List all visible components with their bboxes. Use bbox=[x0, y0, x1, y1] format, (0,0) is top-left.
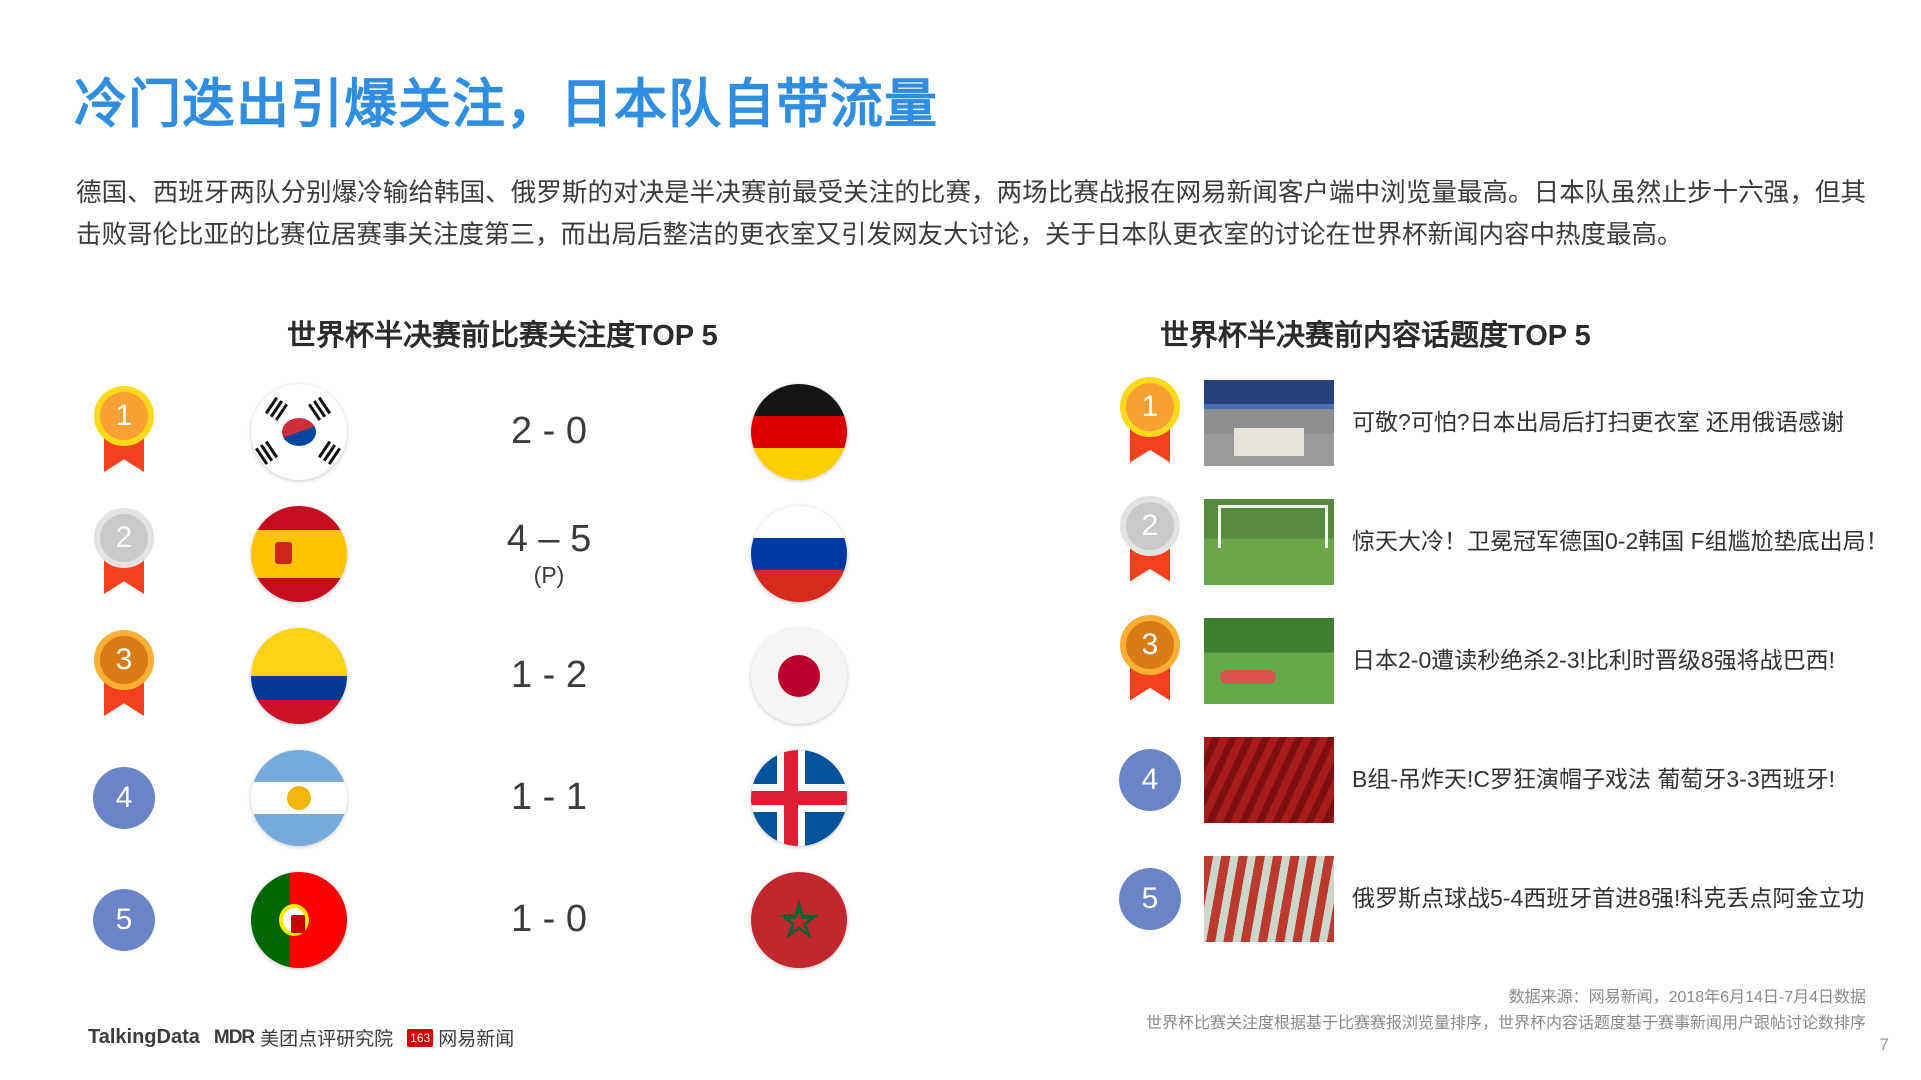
japan-belgium-photo bbox=[1204, 618, 1334, 704]
team-a-cell bbox=[174, 872, 424, 968]
rank-cell: 4 bbox=[74, 767, 174, 829]
page-number: 7 bbox=[1880, 1035, 1889, 1055]
colombia-flag-icon bbox=[251, 628, 347, 724]
team-a-cell bbox=[174, 628, 424, 724]
mdr-logo-mark: MDR bbox=[214, 1027, 254, 1049]
rank-number: 2 bbox=[1120, 496, 1180, 556]
score-value: 4 – 5 bbox=[507, 518, 592, 560]
netease-logo-mark: 163 bbox=[407, 1029, 433, 1047]
talkingdata-logo: TalkingData bbox=[88, 1026, 200, 1049]
match-row: 4 1 - 1 bbox=[74, 738, 994, 858]
bronze-medal-icon: 3 bbox=[91, 630, 157, 722]
page-title: 冷门迭出引爆关注，日本队自带流量 bbox=[74, 62, 938, 138]
crowd-red-photo bbox=[1204, 737, 1334, 823]
rank-number: 3 bbox=[1120, 615, 1180, 675]
team-a-cell bbox=[174, 384, 424, 480]
intro-paragraph: 德国、西班牙两队分别爆冷输给韩国、俄罗斯的对决是半决赛前最受关注的比赛，两场比赛… bbox=[76, 172, 1866, 256]
news-title[interactable]: 日本2-0遭读秒绝杀2-3!比利时晋级8强将战巴西! bbox=[1352, 644, 1890, 677]
rank-cell: 2 bbox=[74, 508, 174, 600]
score-value: 1 - 2 bbox=[511, 654, 587, 696]
rank-number: 1 bbox=[1120, 377, 1180, 437]
score-value: 1 - 0 bbox=[511, 898, 587, 940]
celebration-photo bbox=[1204, 856, 1334, 942]
morocco-flag-icon bbox=[751, 872, 847, 968]
source-line-1: 数据来源：网易新闻，2018年6月14日-7月4日数据 bbox=[1146, 985, 1866, 1011]
team-a-cell bbox=[174, 506, 424, 602]
rank-cell: 3 bbox=[74, 630, 174, 722]
team-b-cell bbox=[674, 506, 924, 602]
match-row: 1 2 - 0 bbox=[74, 372, 994, 492]
news-title[interactable]: 俄罗斯点球战5-4西班牙首进8强!科克丢点阿金立功 bbox=[1352, 882, 1890, 915]
match-score: 1 - 1 bbox=[424, 777, 674, 819]
topic-list: 1 可敬?可怕?日本出局后打扫更衣室 还用俄语感谢 2 惊天大冷！卫冕冠军德国0… bbox=[1100, 372, 1890, 967]
goal-save-photo bbox=[1204, 499, 1334, 585]
russia-flag-icon bbox=[751, 506, 847, 602]
match-row: 3 1 - 2 bbox=[74, 616, 994, 736]
argentina-flag-icon bbox=[251, 750, 347, 846]
team-b-cell bbox=[674, 384, 924, 480]
rank-number: 3 bbox=[94, 630, 154, 690]
score-note: (P) bbox=[424, 563, 674, 588]
netease-logo-text: 网易新闻 bbox=[438, 1024, 514, 1051]
silver-medal-icon: 2 bbox=[1117, 496, 1183, 588]
news-row[interactable]: 1 可敬?可怕?日本出局后打扫更衣室 还用俄语感谢 bbox=[1100, 372, 1890, 473]
left-section-heading: 世界杯半决赛前比赛关注度TOP 5 bbox=[287, 312, 718, 354]
gold-medal-icon: 1 bbox=[1117, 377, 1183, 469]
match-score: 4 – 5 (P) bbox=[424, 519, 674, 588]
match-attention-list: 1 2 - 0 2 bbox=[74, 372, 994, 982]
logo-bar: TalkingData MDR 美团点评研究院 163 网易新闻 bbox=[88, 1024, 514, 1051]
team-b-cell bbox=[674, 750, 924, 846]
news-row[interactable]: 3 日本2-0遭读秒绝杀2-3!比利时晋级8强将战巴西! bbox=[1100, 610, 1890, 711]
rank-circle-5: 5 bbox=[1119, 868, 1181, 930]
rank-cell: 1 bbox=[1100, 377, 1200, 469]
rank-cell: 2 bbox=[1100, 496, 1200, 588]
match-score: 1 - 2 bbox=[424, 655, 674, 697]
match-row: 5 1 - 0 bbox=[74, 860, 994, 980]
team-b-cell bbox=[674, 872, 924, 968]
right-section-heading: 世界杯半决赛前内容话题度TOP 5 bbox=[1160, 312, 1591, 354]
portugal-flag-icon bbox=[251, 872, 347, 968]
talkingdata-logo-text: TalkingData bbox=[88, 1026, 200, 1048]
source-note: 数据来源：网易新闻，2018年6月14日-7月4日数据 世界杯比赛关注度根据基于… bbox=[1146, 985, 1866, 1037]
team-b-cell bbox=[674, 628, 924, 724]
rank-circle-4: 4 bbox=[93, 767, 155, 829]
news-title[interactable]: B组-吊炸天!C罗狂演帽子戏法 葡萄牙3-3西班牙! bbox=[1352, 763, 1890, 796]
locker-room-photo bbox=[1204, 380, 1334, 466]
match-score: 1 - 0 bbox=[424, 899, 674, 941]
news-row[interactable]: 5 俄罗斯点球战5-4西班牙首进8强!科克丢点阿金立功 bbox=[1100, 848, 1890, 949]
rank-number: 2 bbox=[94, 508, 154, 568]
score-value: 1 - 1 bbox=[511, 776, 587, 818]
score-value: 2 - 0 bbox=[511, 410, 587, 452]
bronze-medal-icon: 3 bbox=[1117, 615, 1183, 707]
source-line-2: 世界杯比赛关注度根据基于比赛赛报浏览量排序，世界杯内容话题度基于赛事新闻用户跟帖… bbox=[1146, 1011, 1866, 1037]
korea-flag-icon bbox=[251, 384, 347, 480]
rank-circle-4: 4 bbox=[1119, 749, 1181, 811]
mdr-logo: MDR 美团点评研究院 bbox=[214, 1024, 393, 1051]
silver-medal-icon: 2 bbox=[91, 508, 157, 600]
rank-cell: 3 bbox=[1100, 615, 1200, 707]
iceland-flag-icon bbox=[751, 750, 847, 846]
rank-number: 1 bbox=[94, 386, 154, 446]
germany-flag-icon bbox=[751, 384, 847, 480]
rank-cell: 4 bbox=[1100, 749, 1200, 811]
rank-circle-5: 5 bbox=[93, 889, 155, 951]
match-row: 2 4 – 5 (P) bbox=[74, 494, 994, 614]
spain-flag-icon bbox=[251, 506, 347, 602]
team-a-cell bbox=[174, 750, 424, 846]
news-title[interactable]: 惊天大冷！卫冕冠军德国0-2韩国 F组尴尬垫底出局！ bbox=[1352, 525, 1890, 558]
slide: 冷门迭出引爆关注，日本队自带流量 德国、西班牙两队分别爆冷输给韩国、俄罗斯的对决… bbox=[0, 0, 1921, 1080]
rank-cell: 1 bbox=[74, 386, 174, 478]
match-score: 2 - 0 bbox=[424, 411, 674, 453]
japan-flag-icon bbox=[751, 628, 847, 724]
mdr-logo-text: 美团点评研究院 bbox=[260, 1024, 393, 1051]
rank-cell: 5 bbox=[1100, 868, 1200, 930]
news-title[interactable]: 可敬?可怕?日本出局后打扫更衣室 还用俄语感谢 bbox=[1352, 406, 1890, 439]
gold-medal-icon: 1 bbox=[91, 386, 157, 478]
news-row[interactable]: 4 B组-吊炸天!C罗狂演帽子戏法 葡萄牙3-3西班牙! bbox=[1100, 729, 1890, 830]
netease-news-logo: 163 网易新闻 bbox=[407, 1024, 514, 1051]
news-row[interactable]: 2 惊天大冷！卫冕冠军德国0-2韩国 F组尴尬垫底出局！ bbox=[1100, 491, 1890, 592]
rank-cell: 5 bbox=[74, 889, 174, 951]
